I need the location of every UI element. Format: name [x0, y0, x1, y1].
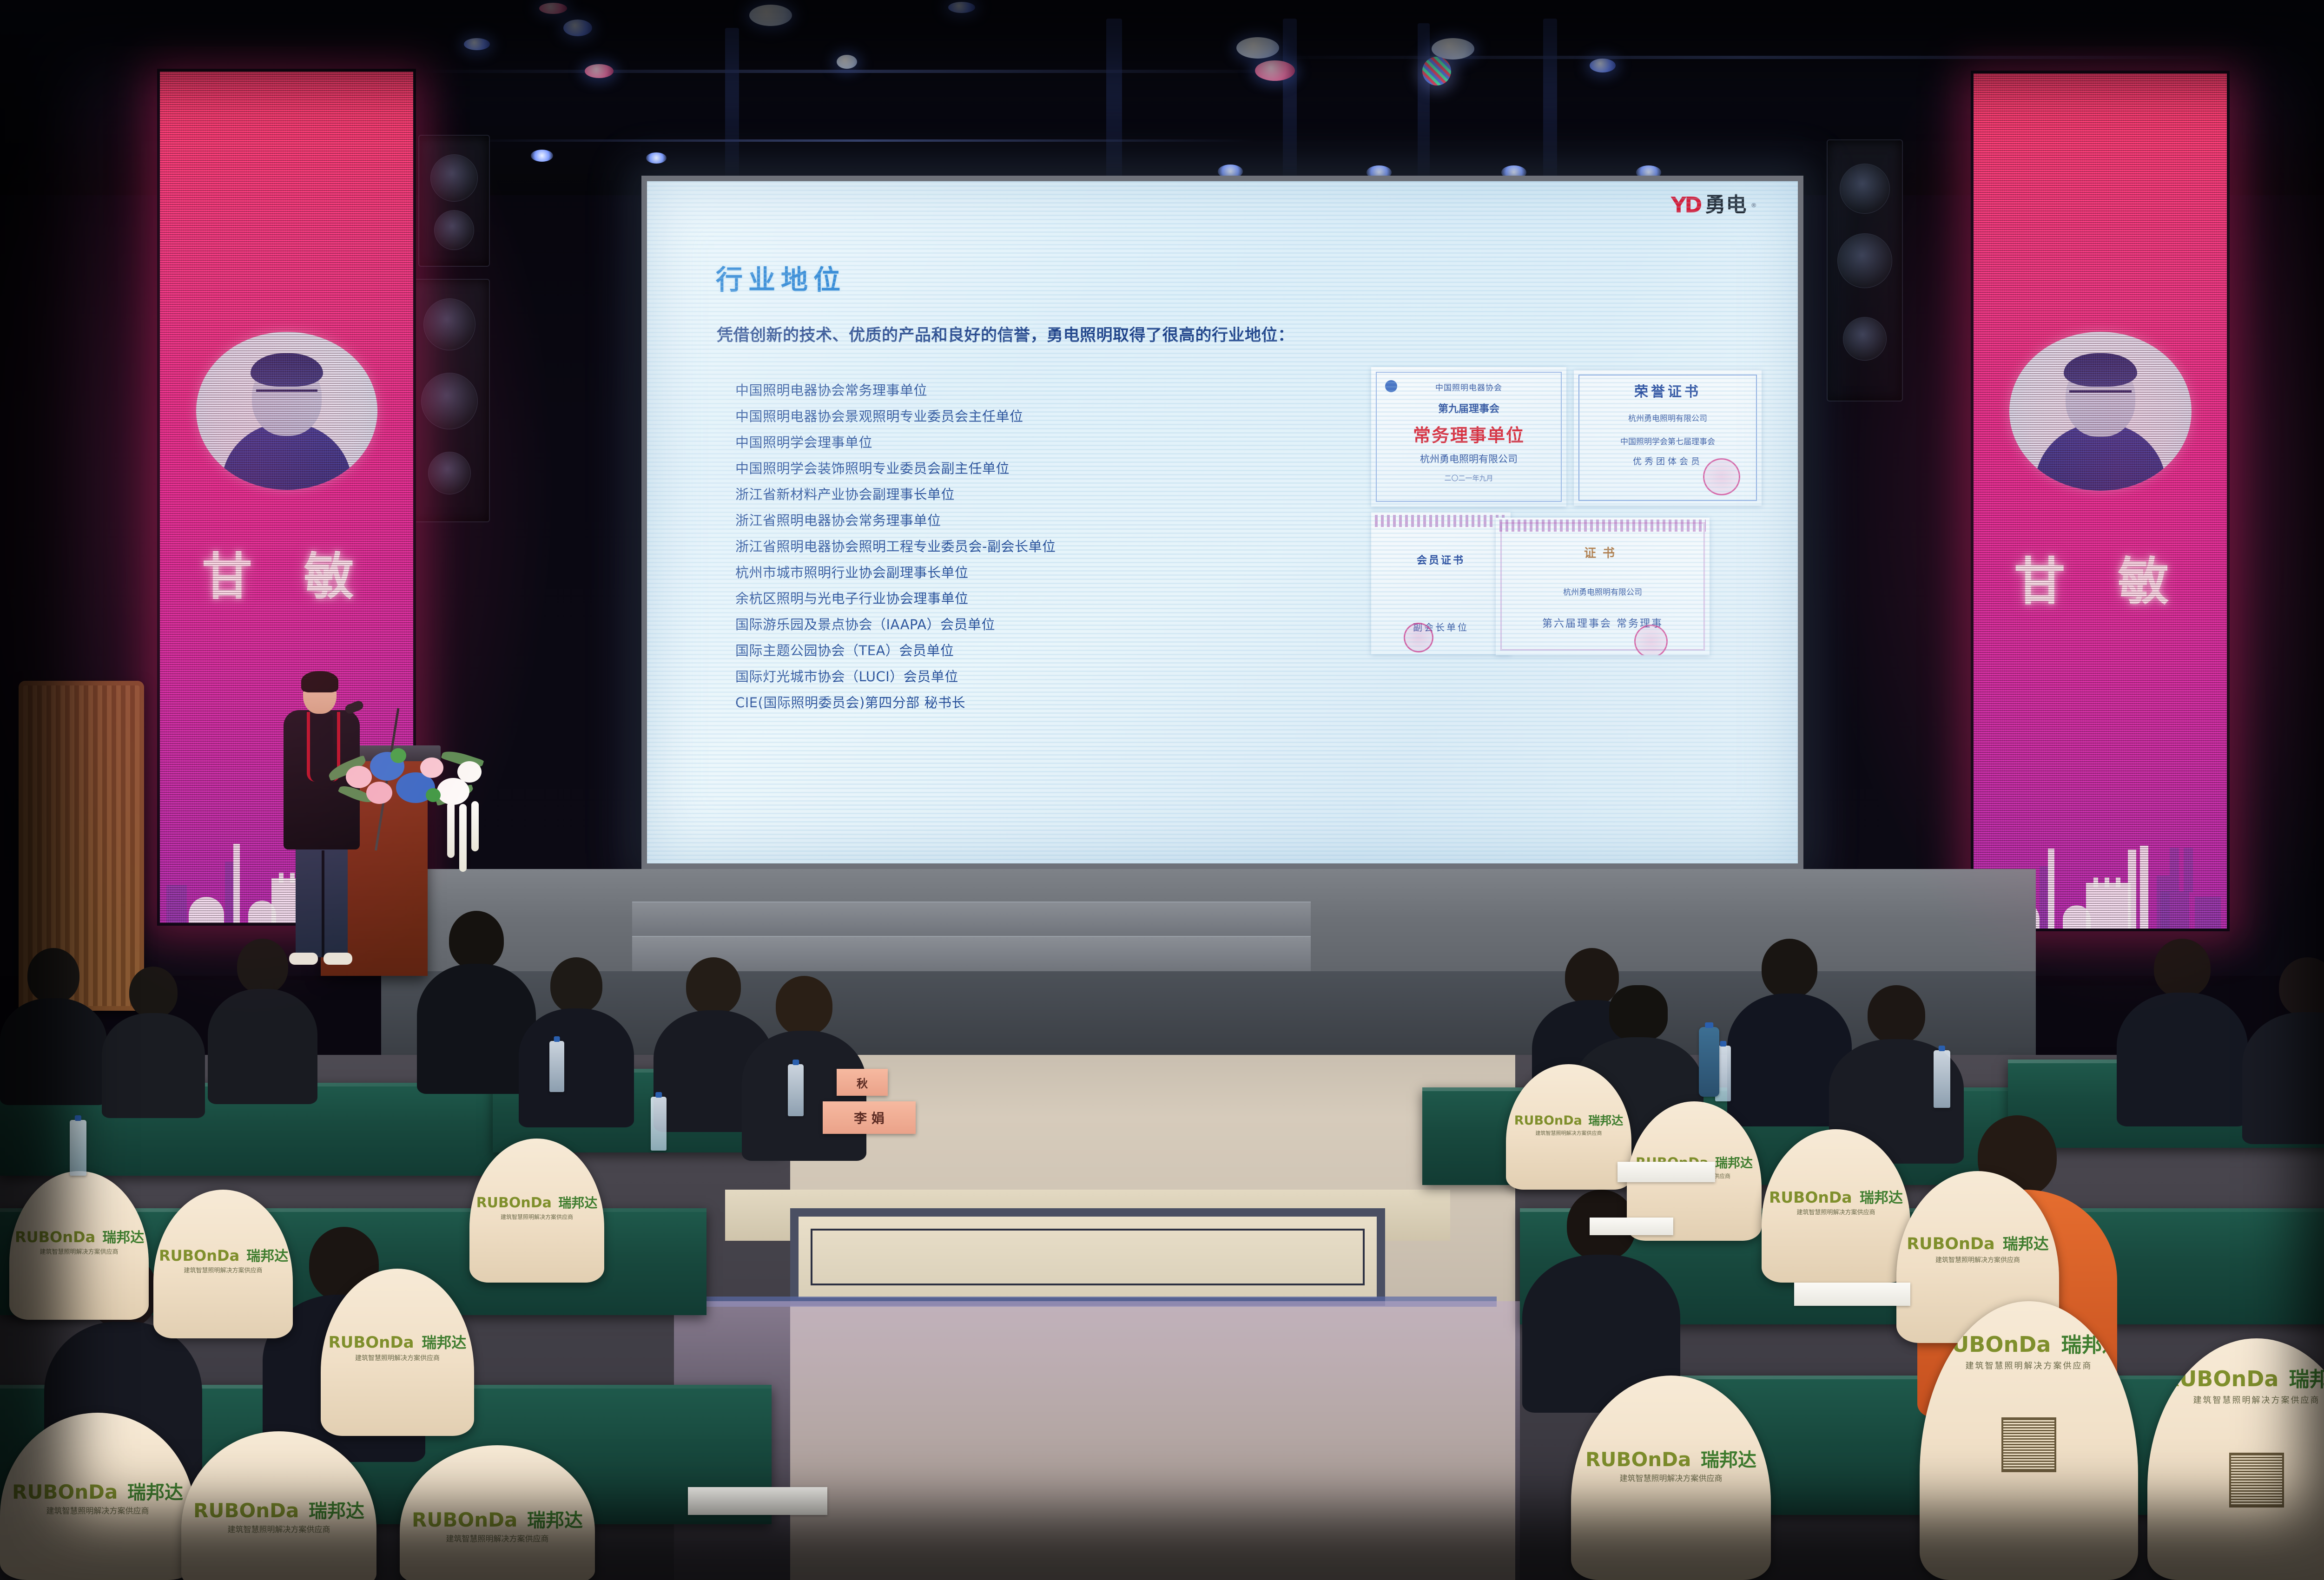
water-bottle	[70, 1120, 86, 1176]
certificate-company: 杭州勇电照明有限公司	[1371, 452, 1566, 466]
sponsor-brand-latin: RUBOnDa	[1585, 1448, 1691, 1471]
par-light	[1422, 57, 1451, 86]
list-item: 浙江省新材料产业协会副理事长单位	[735, 488, 1293, 501]
audience-member	[0, 948, 107, 1101]
list-item: 中国照明学会装饰照明专业委员会副主任单位	[735, 462, 1293, 475]
certificate-honor: 荣誉证书 杭州勇电照明有限公司 中国照明学会第七届理事会 优秀团体会员	[1574, 370, 1762, 506]
speaker-cabinet	[1827, 139, 1903, 402]
chair-cover-front: RUBOnDa 瑞邦达 建筑智慧照明解决方案供应商	[2147, 1338, 2324, 1580]
certificate-company: 杭州勇电照明有限公司	[1496, 586, 1710, 597]
par-light	[563, 20, 592, 36]
audience-member	[209, 939, 316, 1106]
certificate-award: 副会长单位	[1371, 620, 1511, 633]
sponsor-brand-cn: 瑞邦达	[309, 1501, 364, 1522]
sponsor-brand-latin: RUBOnDa	[476, 1195, 552, 1211]
list-item: 国际游乐园及景点协会（IAAPA）会员单位	[735, 618, 1293, 632]
qr-code	[2229, 1453, 2284, 1508]
sponsor-brand-latin: RUBOnDa	[2163, 1366, 2279, 1391]
sponsor-tagline: 建筑智慧照明解决方案供应商	[1926, 1362, 2132, 1370]
certificate-award: 第六届理事会 常务理事	[1496, 615, 1710, 630]
par-light	[539, 3, 567, 14]
list-item: 中国照明电器协会景观照明专业委员会主任单位	[735, 410, 1293, 423]
audience-member	[102, 967, 205, 1115]
spot-light	[531, 150, 553, 162]
list-item: 中国照明学会理事单位	[735, 436, 1293, 449]
sponsor-brand-latin: RUBOnDa	[1907, 1235, 1994, 1253]
par-light	[1255, 60, 1295, 81]
water-bottle	[651, 1097, 667, 1151]
sponsor-tagline: 建筑智慧照明解决方案供应商	[1768, 1210, 1904, 1216]
audience-member	[521, 957, 632, 1129]
certificate-issuer: 中国照明电器协会	[1371, 381, 1566, 393]
certificate-company: 杭州勇电照明有限公司	[1574, 412, 1762, 423]
sponsor-tagline: 建筑智慧照明解决方案供应商	[15, 1249, 143, 1255]
speaker-cabinet	[418, 135, 490, 267]
conference-hall-scene: 甘 敏 甘 敏	[0, 0, 2324, 1580]
water-bottle	[788, 1064, 804, 1116]
audience-member	[2245, 957, 2324, 1143]
document-on-table	[1794, 1283, 1910, 1306]
list-item: 杭州市城市照明行业协会副理事长单位	[735, 566, 1293, 579]
spot-light	[646, 152, 667, 164]
sponsor-brand-cn: 瑞邦达	[102, 1230, 144, 1246]
sponsor-tagline: 建筑智慧照明解决方案供应商	[327, 1355, 468, 1362]
sponsor-tagline: 建筑智慧照明解决方案供应商	[189, 1526, 369, 1534]
par-light	[585, 64, 614, 78]
marble-inlay-medallion	[790, 1208, 1385, 1306]
document-on-table	[688, 1487, 827, 1515]
certificate-title: 会员证书	[1371, 552, 1511, 567]
par-light	[1590, 59, 1616, 72]
list-item: 余杭区照明与光电子行业协会理事单位	[735, 592, 1293, 606]
sponsor-tagline: 建筑智慧照明解决方案供应商	[408, 1535, 587, 1543]
certificate-gallery: 中国照明电器协会 第九届理事会 常务理事单位 杭州勇电照明有限公司 二〇二一年九…	[1371, 367, 1762, 655]
chair-cover-front: RUBOnDa 瑞邦达 建筑智慧照明解决方案供应商	[1920, 1301, 2138, 1580]
sponsor-brand-latin: RUBOnDa	[15, 1228, 95, 1246]
par-light	[749, 5, 792, 26]
sponsor-tagline: 建筑智慧照明解决方案供应商	[1903, 1257, 2053, 1264]
audience-member	[418, 911, 535, 1097]
sponsor-tagline: 建筑智慧照明解决方案供应商	[8, 1508, 187, 1515]
certificate-title: 荣誉证书	[1574, 380, 1762, 401]
sponsor-brand-cn: 瑞邦达	[422, 1334, 466, 1351]
sponsor-brand-cn: 瑞邦达	[2061, 1333, 2122, 1357]
document-on-table	[1590, 1218, 1673, 1235]
certificate-date: 二〇二一年九月	[1371, 473, 1566, 483]
certificate-standing-director: 中国照明电器协会 第九届理事会 常务理事单位 杭州勇电照明有限公司 二〇二一年九…	[1371, 367, 1566, 507]
qr-code	[2001, 1417, 2056, 1472]
sponsor-brand-latin: RUBOnDa	[329, 1333, 414, 1352]
yd-brand-logo: YD 勇电 ®	[1671, 194, 1756, 216]
list-item: 国际灯光城市协会（LUCI）会员单位	[735, 670, 1293, 684]
truss-rigging	[1418, 23, 1430, 181]
yd-logo-mark: YD	[1671, 194, 1701, 216]
truss-rigging	[1106, 19, 1122, 195]
water-bottle	[1934, 1050, 1950, 1108]
flower-arrangement	[325, 733, 483, 840]
name-placard: 秋	[837, 1069, 888, 1096]
par-light	[1236, 37, 1279, 59]
sponsor-brand-latin: RUBOnDa	[412, 1508, 517, 1531]
eyeglasses	[303, 690, 337, 691]
sponsor-brand-latin: RUBOnDa	[12, 1481, 118, 1503]
par-light	[948, 2, 975, 13]
truss-rigging	[1543, 19, 1557, 191]
speaker-cabinet	[409, 279, 490, 522]
truss-rigging	[725, 28, 739, 181]
sponsor-brand-cn: 瑞邦达	[558, 1195, 597, 1211]
document-on-table	[1618, 1162, 1715, 1182]
presentation-slide: YD 勇电 ® 行业地位 凭借创新的技术、优质的产品和良好的信誉，勇电照明取得了…	[647, 181, 1798, 863]
sponsor-tagline: 建筑智慧照明解决方案供应商	[2154, 1396, 2324, 1405]
list-item: 中国照明电器协会常务理事单位	[735, 384, 1293, 397]
sponsor-brand-cn: 瑞邦达	[1588, 1114, 1623, 1127]
par-light	[464, 38, 490, 50]
certificate-membership: 会员证书 副会长单位	[1371, 512, 1511, 654]
sponsor-brand-cn: 瑞邦达	[1701, 1449, 1756, 1471]
slide-title: 行业地位	[716, 258, 846, 297]
par-light	[837, 55, 857, 69]
projection-screen-frame: YD 勇电 ® 行业地位 凭借创新的技术、优质的产品和良好的信誉，勇电照明取得了…	[641, 176, 1803, 869]
slide-lead-paragraph: 凭借创新的技术、优质的产品和良好的信誉，勇电照明取得了很高的行业地位：	[717, 322, 1294, 346]
sponsor-brand-cn: 瑞邦达	[246, 1248, 288, 1264]
yd-logo-wordmark: 勇电	[1705, 195, 1747, 215]
sponsor-tagline: 建筑智慧照明解决方案供应商	[159, 1268, 287, 1274]
sponsor-tagline: 建筑智慧照明解决方案供应商	[475, 1214, 599, 1220]
truss-rigging	[1283, 19, 1297, 186]
certificate-title: 证书	[1496, 544, 1710, 561]
audience-member	[2119, 939, 2245, 1125]
sponsor-brand-latin: RUBOnDa	[1514, 1113, 1582, 1128]
sponsor-tagline: 建筑智慧照明解决方案供应商	[1511, 1131, 1626, 1136]
sponsor-brand-cn: 瑞邦达	[1860, 1190, 1903, 1206]
sponsor-brand-latin: RUBOnDa	[1769, 1188, 1852, 1206]
led-panel-right: 甘 敏	[1971, 71, 2230, 931]
industry-status-list: 中国照明电器协会常务理事单位 中国照明电器协会景观照明专业委员会主任单位 中国照…	[717, 384, 1293, 722]
sponsor-brand-cn: 瑞邦达	[2003, 1235, 2049, 1253]
name-placard: 李 娟	[823, 1101, 916, 1134]
thermos-bottle	[1699, 1027, 1719, 1097]
list-item: CIE(国际照明委员会)第四分部 秘书长	[735, 696, 1293, 710]
list-item: 浙江省照明电器协会常务理事单位	[735, 514, 1293, 527]
sponsor-brand-cn: 瑞邦达	[527, 1510, 583, 1531]
sponsor-brand-latin: RUBOnDa	[193, 1499, 299, 1522]
sponsor-brand-latin: RUBOnDa	[159, 1247, 239, 1264]
sponsor-tagline: 建筑智慧照明解决方案供应商	[1579, 1475, 1763, 1483]
list-item: 国际主题公园协会（TEA）会员单位	[735, 644, 1293, 658]
certificate-session: 中国照明学会第七届理事会	[1574, 435, 1762, 447]
water-bottle	[549, 1041, 564, 1092]
list-item: 浙江省照明电器协会照明工程专业委员会-副会长单位	[735, 540, 1293, 553]
certificate-sixth-council: 证书 杭州勇电照明有限公司 第六届理事会 常务理事	[1496, 518, 1710, 655]
yd-logo-trademark: ®	[1751, 202, 1756, 209]
sponsor-brand-cn: 瑞邦达	[2289, 1368, 2324, 1391]
sponsor-brand-cn: 瑞邦达	[127, 1482, 183, 1503]
sponsor-brand-latin: RUBOnDa	[1935, 1332, 2051, 1357]
sponsor-brand-cn: 瑞邦达	[1715, 1156, 1753, 1171]
floor-reflection	[674, 1301, 1520, 1580]
certificate-award: 常务理事单位	[1371, 421, 1566, 447]
certificate-session: 第九届理事会	[1371, 401, 1566, 415]
par-light	[1432, 38, 1474, 59]
